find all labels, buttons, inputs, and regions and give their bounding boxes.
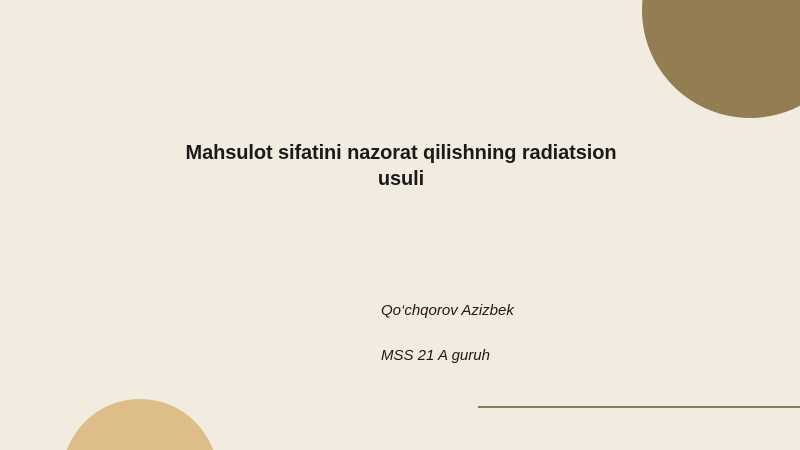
decorative-circle-top-right-icon <box>642 0 800 118</box>
decorative-circle-bottom-left-icon <box>62 399 218 450</box>
divider-rule <box>478 406 800 408</box>
slide-title-line-2: usuli <box>170 166 632 192</box>
author-group: MSS 21 A guruh <box>381 348 761 365</box>
author-name: Qo‘chqorov Azizbek <box>381 303 761 320</box>
slide-subtitle: Qo‘chqorov Azizbek MSS 21 A guruh <box>381 303 761 364</box>
slide-title: Mahsulot sifatini nazorat qilishning rad… <box>170 140 632 193</box>
slide-title-line-1: Mahsulot sifatini nazorat qilishning rad… <box>170 140 632 166</box>
presentation-slide: Mahsulot sifatini nazorat qilishning rad… <box>0 0 800 450</box>
